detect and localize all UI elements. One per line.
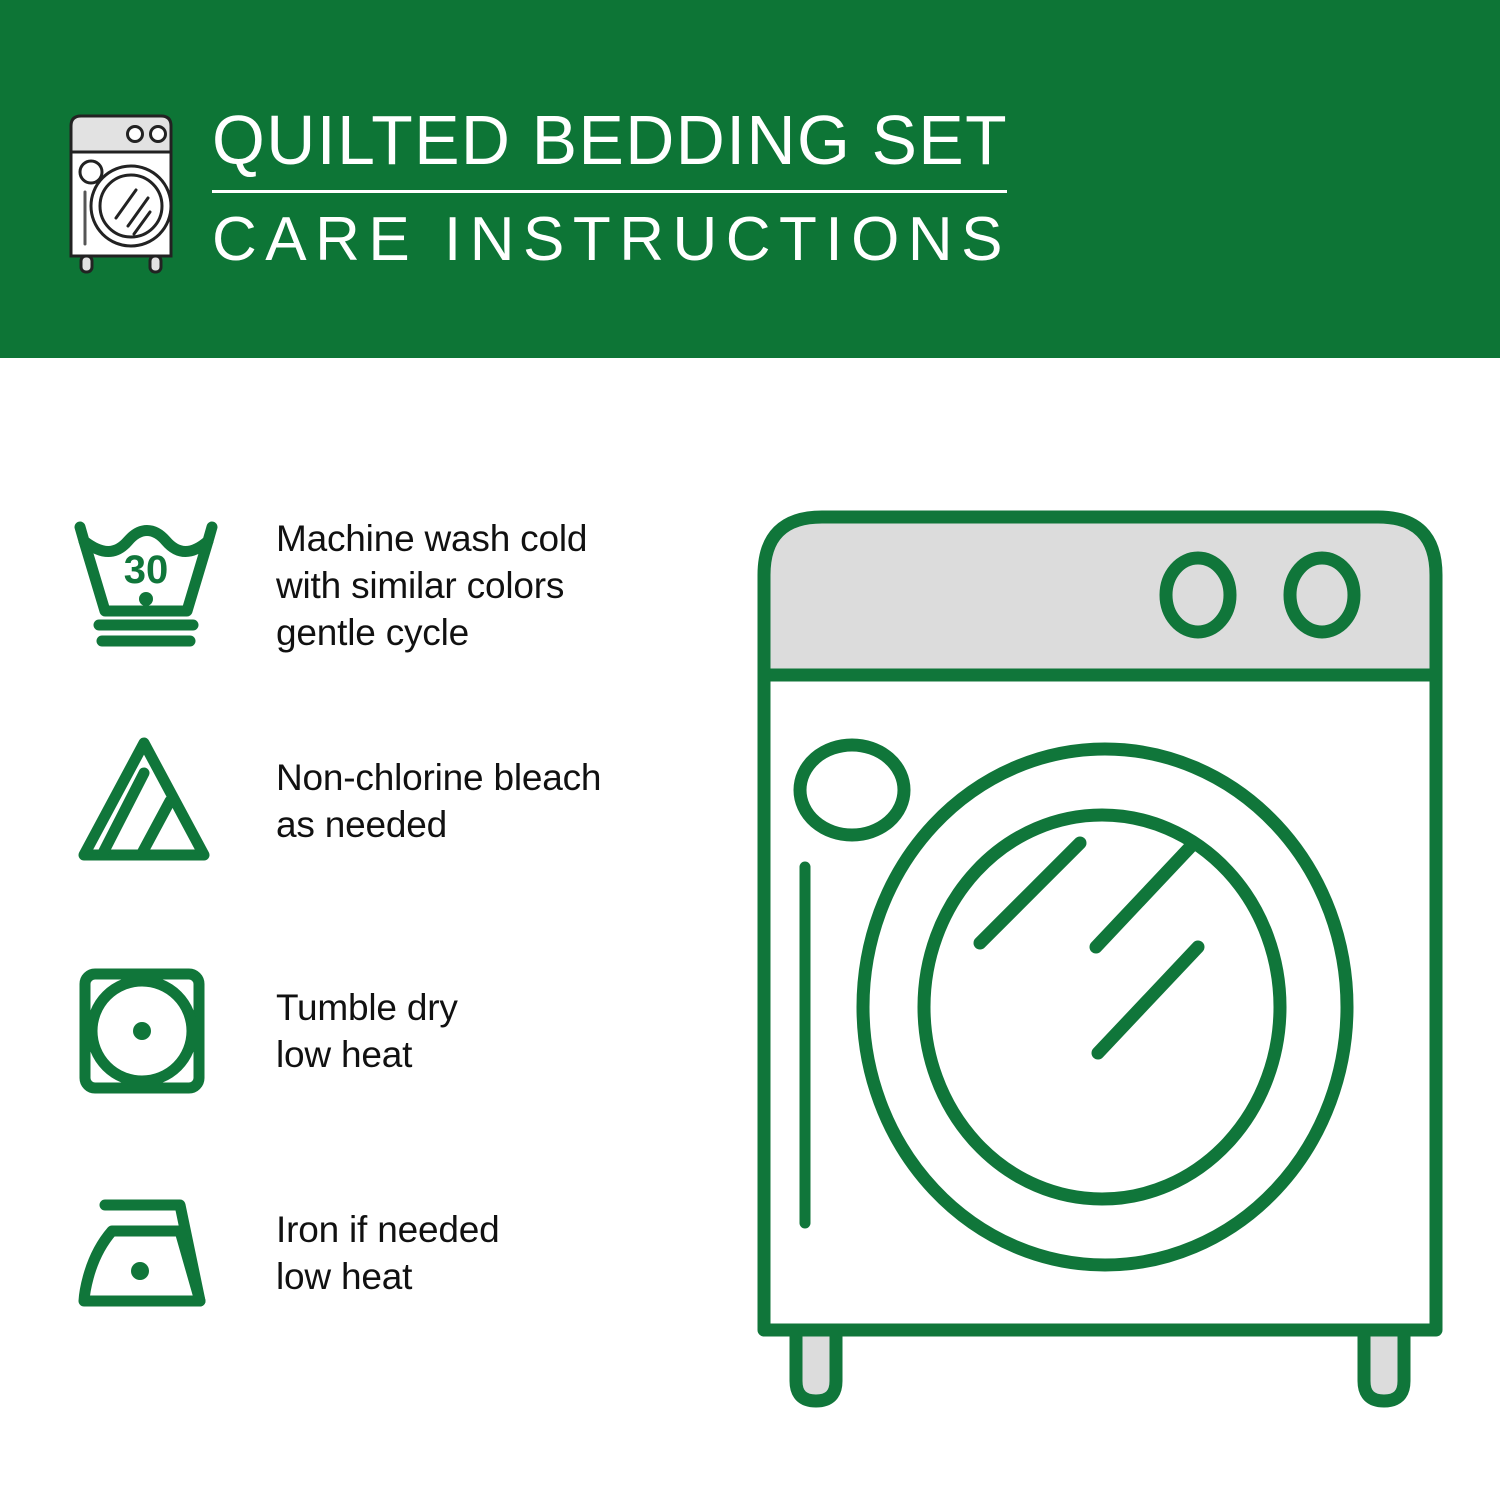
care-item-wash-label: Machine wash cold with similar colors ge… [232,515,732,656]
care-item-tumble-dry: Tumble dry low heat [72,956,732,1106]
care-item-iron-label: Iron if needed low heat [232,1206,732,1300]
iron-low-heat-icon [72,1178,232,1328]
care-item-bleach: Non-chlorine bleach as needed [72,726,732,876]
care-symbol-list: 30 Machine wash cold with similar colors… [0,358,740,1500]
care-item-wash: 30 Machine wash cold with similar colors… [72,510,732,660]
washing-machine-icon [62,102,190,274]
page-subtitle: CARE INSTRUCTIONS [212,207,1033,273]
wash-temperature-label: 30 [124,548,169,592]
header-band: QUILTED BEDDING SET CARE INSTRUCTIONS [0,0,1500,358]
non-chlorine-bleach-icon [72,726,232,876]
machine-wash-30-gentle-icon: 30 [72,510,232,660]
header-content: QUILTED BEDDING SET CARE INSTRUCTIONS [62,98,1033,274]
front-load-washing-machine-illustration [750,495,1450,1415]
tumble-dry-low-icon [72,956,232,1106]
header-text-block: QUILTED BEDDING SET CARE INSTRUCTIONS [212,98,1033,273]
care-instructions-infographic: QUILTED BEDDING SET CARE INSTRUCTIONS [0,0,1500,1500]
care-item-iron: Iron if needed low heat [72,1178,732,1328]
title-divider [212,190,1007,193]
page-title: QUILTED BEDDING SET [212,102,1008,178]
care-item-bleach-label: Non-chlorine bleach as needed [232,754,732,848]
care-item-tumble-dry-label: Tumble dry low heat [232,984,732,1078]
